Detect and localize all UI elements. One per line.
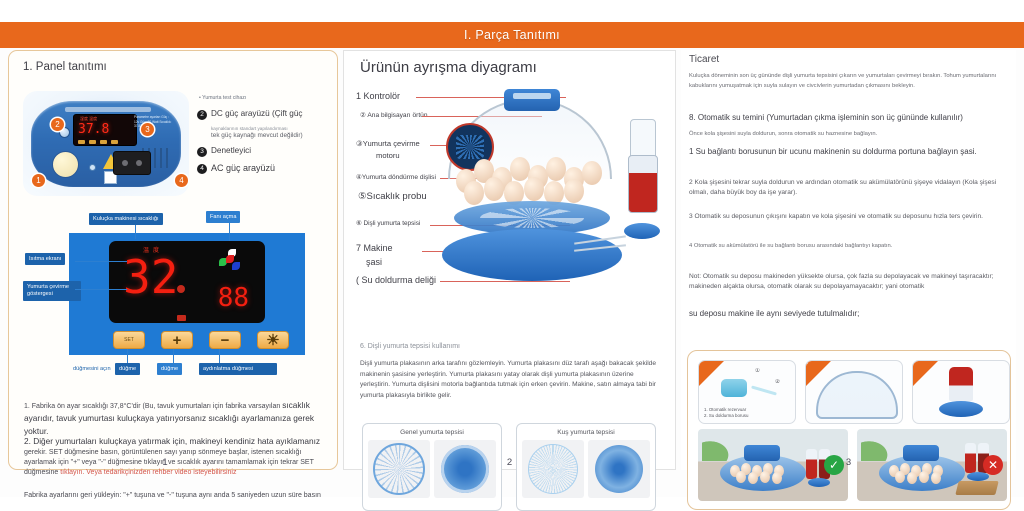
tray-box-title: Genel yumurta tepsisi [363, 424, 501, 436]
manual-page: I. Parça Tanıtımı 1. Panel tanıtımı 湿度 温… [0, 0, 1024, 497]
machine-chassis-part [442, 229, 622, 281]
reservoir-icon [721, 379, 747, 397]
paragraph-3: Fabrika ayarlarını geri yükleyin: "+" tu… [24, 491, 324, 501]
device-brand [65, 107, 151, 112]
step-3: 3 Otomatik su deposunun çıkışını kapatın… [689, 212, 1009, 222]
indicator-dot-icon [89, 164, 96, 171]
tag-egg-turn-indicator: Yumurta çevirme göstergesi [23, 281, 81, 301]
exploded-diagram: 1 Kontrolör ② Ana bilgisayarı örtün ③Yum… [344, 85, 677, 335]
panel-heading: 1. Panel tanıtımı [23, 61, 107, 73]
legend-bullet-icon: 2 [197, 110, 207, 120]
photo-number-2: ② [775, 379, 780, 385]
tray-image-outline [522, 440, 584, 498]
tag-minus-button: düğme [157, 363, 182, 375]
fill-pipe-icon [751, 385, 777, 395]
incubator-exploded-art [424, 83, 674, 295]
photo-caption-line2: 2. Su doldurma borusu [704, 413, 748, 420]
paragraph-2-line3: tıklayın. Veya tedarikçinizden rehber vi… [60, 469, 236, 476]
section-8-note: Önce kola şişesini suyla doldurun, sonra… [689, 130, 1009, 140]
page-number-3: 3 [681, 457, 1016, 468]
device-lcd: 湿度 温度 37.8 [73, 114, 137, 146]
paragraph-1-line1: 1. Fabrika ön ayar sıcaklığı 37,8°C'dir … [24, 403, 280, 410]
important-note: Not: Otomatik su deposu makineden yüksek… [689, 272, 1009, 292]
photo-gallery-box: Otomatik su ① ② 1. Otomatik rezervuar 2.… [687, 350, 1011, 510]
leader-line [75, 289, 127, 290]
photo-number-1: ① [755, 368, 760, 374]
incubator-control-panel-photo: 湿度 温度 37.8 Parametre ayarları Güç : 12v … [23, 91, 189, 196]
bottle-foot [624, 223, 660, 239]
column-page-3: Ticaret Kuluçka döneminin son üç gününde… [681, 50, 1016, 470]
diagram-label-turn-motor-2: motoru [376, 151, 400, 160]
light-button[interactable]: ☀ [257, 331, 289, 349]
legend-top-note: • Yumurta test cihazı [199, 95, 335, 101]
panel-legend: • Yumurta test cihazı 2 DC güç arayüzü (… [197, 91, 335, 181]
legend-item-3: 3 Denetleyici [197, 146, 335, 157]
tag-set-button: düğmesini açın [69, 363, 115, 375]
callout-4: 4 [175, 174, 188, 187]
fan-icon [219, 249, 243, 273]
tray-images [517, 440, 655, 498]
photo-caption: 1. Otomatik rezervuar 2. Su doldurma bor… [704, 407, 748, 420]
top-strip [0, 0, 1024, 22]
corner-ribbon: Montaj [912, 360, 948, 388]
machine-closeup-art [816, 371, 898, 419]
legend-bullet-icon: 3 [197, 147, 207, 157]
step-2: 2 Kola şişesini tekrar suyla doldurun ve… [689, 178, 1009, 198]
tray-image-loaded [588, 440, 650, 498]
panel-button-row: SET + − ☀ [113, 331, 289, 349]
photo-card-assembly: Montaj [912, 360, 1010, 424]
tray-box-title: Kuş yumurta tepsisi [517, 424, 655, 436]
eggs-group [456, 155, 606, 201]
sheet-2: Ürünün ayrışma diyagramı 1 Kontrolör ② A… [343, 50, 676, 470]
legend-label: DC güç arayüzü (Çift güç [211, 109, 302, 119]
leader-line [75, 261, 127, 262]
tray-image-outline [368, 440, 430, 498]
trade-heading: Ticaret [689, 54, 719, 65]
controller-part [504, 89, 560, 111]
sheet-3: Ticaret Kuluçka döneminin son üç gününde… [681, 50, 1016, 470]
leader-line [229, 223, 230, 241]
diagram-title: Ürünün ayrışma diyagramı [360, 59, 537, 76]
page-columns: 1. Panel tanıtımı 湿度 温度 37.8 Parametre a… [0, 50, 1024, 497]
page-number-1: 1 [0, 457, 330, 468]
photo-row-top: Otomatik su ① ② 1. Otomatik rezervuar 2.… [698, 360, 1010, 424]
diagram-label-chassis-2: şasi [366, 257, 382, 267]
display-sub-value: 88 [218, 285, 249, 311]
leader-line [135, 225, 136, 239]
device-spec-text: Parametre ayarları Güç : 12v Güç: 80 Wat… [134, 115, 174, 141]
trade-intro: Kuluçka döneminin son üç gününde dişli y… [689, 72, 1009, 92]
section-banner: I. Parça Tanıtımı [0, 22, 1024, 48]
important-note-emphasis: su deposu makine ile aynı seviyede tutul… [689, 308, 1009, 320]
callout-2: 2 [51, 118, 64, 131]
corner-ribbon-label: Montaj [912, 360, 918, 368]
legend-label: Denetleyici [211, 146, 251, 156]
leader-line [173, 349, 174, 363]
section-8-heading: 8. Otomatik su temini (Yumurtadan çıkma … [689, 112, 1009, 124]
step-1: 1 Su bağlantı borusunun bir ucunu makine… [689, 146, 1009, 158]
led-display: 温度 32 88 [109, 241, 265, 323]
diagram-label-chassis: 7 Makine [356, 243, 393, 253]
blue-base-icon [939, 401, 983, 417]
step-4: 4 Otomatik su akümülatörü ile su bağlant… [689, 242, 1009, 252]
dc-power-socket [52, 151, 79, 178]
legend-label: AC güç arayüzü [211, 163, 275, 174]
heating-led-icon [177, 285, 185, 293]
corner-ribbon-label: Su girişi [805, 360, 812, 368]
legend-item-4: 4 AC güç arayüzü [197, 163, 335, 174]
diagram-label-geared-tray: ⑥ Dişli yumurta tepsisi [356, 219, 420, 227]
egg-turn-led-icon [177, 315, 186, 321]
tag-incubator-temperature: Kuluçka makinesi sıcaklığı [89, 213, 163, 225]
tray-images [363, 440, 501, 498]
tag-fan-on: Fanı açma [206, 211, 240, 223]
diagram-label-turn-motor: ③Yumurta çevirme [356, 139, 420, 148]
tag-light-button: aydınlatma düğmesi [199, 363, 277, 375]
raised-wood-block-icon [955, 481, 998, 495]
leader-line [219, 349, 220, 363]
sheet-1: 1. Panel tanıtımı 湿度 温度 37.8 Parametre a… [8, 50, 338, 470]
paragraph-1: 1. Fabrika ön ayar sıcaklığı 37,8°C'dir … [24, 399, 324, 438]
callout-3: 3 [141, 123, 154, 136]
banner-title: I. Parça Tanıtımı [464, 28, 560, 42]
section-6-body: Dişli yumurta plakasının arka tarafını g… [360, 359, 660, 401]
diagram-label-temp-probe: ⑤Sıcaklık probu [358, 191, 427, 202]
section-6-heading: 6. Dişli yumurta tepsisi kullanımı [360, 343, 460, 350]
set-button[interactable]: SET [113, 331, 145, 349]
display-main-value: 32 [123, 255, 178, 299]
device-body: 湿度 温度 37.8 Parametre ayarları Güç : 12v … [31, 101, 181, 187]
minus-button[interactable]: − [209, 331, 241, 349]
diagram-label-cover: ② Ana bilgisayarı örtün [360, 111, 428, 119]
column-page-1: 1. Panel tanıtımı 湿度 温度 37.8 Parametre a… [8, 50, 338, 470]
diagram-label-controller: 1 Kontrolör [356, 91, 400, 101]
red-bottle-icon [949, 367, 973, 401]
column-page-2: Ürünün ayrışma diyagramı 1 Kontrolör ② A… [343, 50, 676, 470]
lcd-key-row [78, 140, 118, 144]
photo-caption-line1: 1. Otomatik rezervuar [704, 407, 748, 414]
tray-image-loaded [434, 440, 496, 498]
legend-sub: tek güç kaynağı mevcut değildir) [211, 132, 335, 139]
legend-item-2: 2 DC güç arayüzü (Çift güç [197, 109, 335, 120]
tag-plus-button: düğme [115, 363, 140, 375]
bottle-body [628, 155, 658, 213]
photo-card-reservoir: Otomatik su ① ② 1. Otomatik rezervuar 2.… [698, 360, 796, 424]
callout-1: 1 [32, 174, 45, 187]
water-bottle-part [620, 119, 664, 239]
photo-card-water-inlet: Su girişi [805, 360, 903, 424]
plus-button[interactable]: + [161, 331, 193, 349]
legend-bullet-icon: 4 [197, 164, 207, 174]
leader-line [127, 349, 128, 363]
panel-schematic: 温度 32 88 SET + − ☀ Kuluçka makinesi sıca… [23, 209, 323, 387]
ac-power-socket [113, 151, 151, 175]
paragraph-2-line1: 2. Diğer yumurtaları kuluçkaya yatırmak … [24, 436, 320, 446]
corner-ribbon-label: Otomatik su [698, 360, 709, 368]
page-number-2: 2 [343, 457, 676, 468]
lcd-value: 37.8 [78, 122, 109, 137]
tag-heating-display: Isıtma ekranı [25, 253, 65, 265]
